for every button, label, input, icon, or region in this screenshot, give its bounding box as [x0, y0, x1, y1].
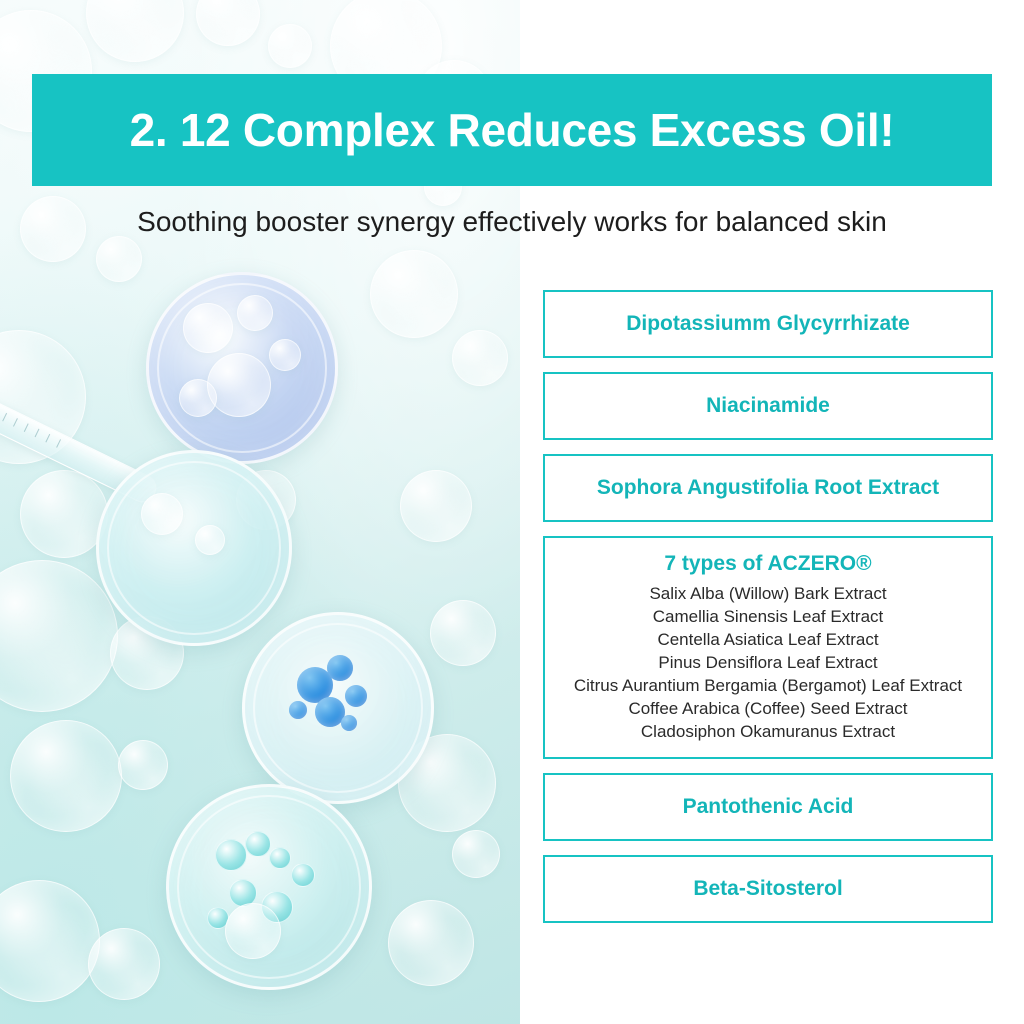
bubble-decoration: [207, 353, 271, 417]
bubble-decoration: [179, 379, 217, 417]
bubble-decoration: [195, 525, 225, 555]
teal-droplet: [269, 847, 291, 869]
teal-droplet: [215, 839, 247, 871]
ingredient-card-list: Dipotassiumm Glycyrrhizate Niacinamide S…: [543, 290, 993, 937]
bubble-decoration: [10, 720, 122, 832]
list-item: Cladosiphon Okamuranus Extract: [553, 720, 983, 743]
headline-banner: 2. 12 Complex Reduces Excess Oil!: [32, 74, 992, 186]
petri-dish-rim: [107, 461, 281, 635]
ingredient-name: 7 types of ACZERO®: [664, 552, 871, 576]
petri-dish-blue-cluster: [242, 612, 434, 804]
list-item: Citrus Aurantium Bergamia (Bergamot) Lea…: [553, 674, 983, 697]
blue-droplet: [289, 701, 307, 719]
bubble-decoration: [452, 330, 508, 386]
bubble-decoration: [88, 928, 160, 1000]
blue-droplet: [341, 715, 357, 731]
aczero-ingredient-sublist: Salix Alba (Willow) Bark Extract Camelli…: [553, 582, 983, 743]
ingredient-card: Niacinamide: [543, 372, 993, 440]
ingredient-name: Sophora Angustifolia Root Extract: [597, 476, 939, 500]
ingredient-card: Sophora Angustifolia Root Extract: [543, 454, 993, 522]
bubble-decoration: [268, 24, 312, 68]
bubble-decoration: [118, 740, 168, 790]
bubble-decoration: [96, 236, 142, 282]
ingredient-card-aczero: 7 types of ACZERO® Salix Alba (Willow) B…: [543, 536, 993, 759]
bubble-decoration: [141, 493, 183, 535]
blue-droplet: [327, 655, 353, 681]
list-item: Coffee Arabica (Coffee) Seed Extract: [553, 697, 983, 720]
list-item: Pinus Densiflora Leaf Extract: [553, 651, 983, 674]
ingredient-name: Beta-Sitosterol: [693, 877, 842, 901]
list-item: Camellia Sinensis Leaf Extract: [553, 605, 983, 628]
page-title: 2. 12 Complex Reduces Excess Oil!: [130, 103, 895, 157]
bubble-decoration: [452, 830, 500, 878]
bubble-decoration: [370, 250, 458, 338]
bubble-decoration: [237, 295, 273, 331]
bubble-decoration: [430, 600, 496, 666]
teal-droplet: [291, 863, 315, 887]
list-item: Centella Asiatica Leaf Extract: [553, 628, 983, 651]
ingredient-card: Pantothenic Acid: [543, 773, 993, 841]
bubble-decoration: [400, 470, 472, 542]
ingredient-name: Pantothenic Acid: [683, 795, 854, 819]
blue-droplet: [345, 685, 367, 707]
list-item: Salix Alba (Willow) Bark Extract: [553, 582, 983, 605]
ingredient-card: Dipotassiumm Glycyrrhizate: [543, 290, 993, 358]
bubble-decoration: [20, 470, 108, 558]
bubble-decoration: [388, 900, 474, 986]
ingredient-name: Dipotassiumm Glycyrrhizate: [626, 312, 910, 336]
bubble-decoration: [225, 903, 281, 959]
ingredient-card: Beta-Sitosterol: [543, 855, 993, 923]
promo-graphic: 2. 12 Complex Reduces Excess Oil! Soothi…: [0, 0, 1024, 1024]
ingredient-name: Niacinamide: [706, 394, 830, 418]
petri-dish-teal-lower: [166, 784, 372, 990]
petri-dish-teal-upper: [96, 450, 292, 646]
teal-droplet: [245, 831, 271, 857]
bubble-decoration: [269, 339, 301, 371]
petri-dish-blue: [146, 272, 338, 464]
page-subtitle: Soothing booster synergy effectively wor…: [0, 206, 1024, 238]
bubble-decoration: [183, 303, 233, 353]
